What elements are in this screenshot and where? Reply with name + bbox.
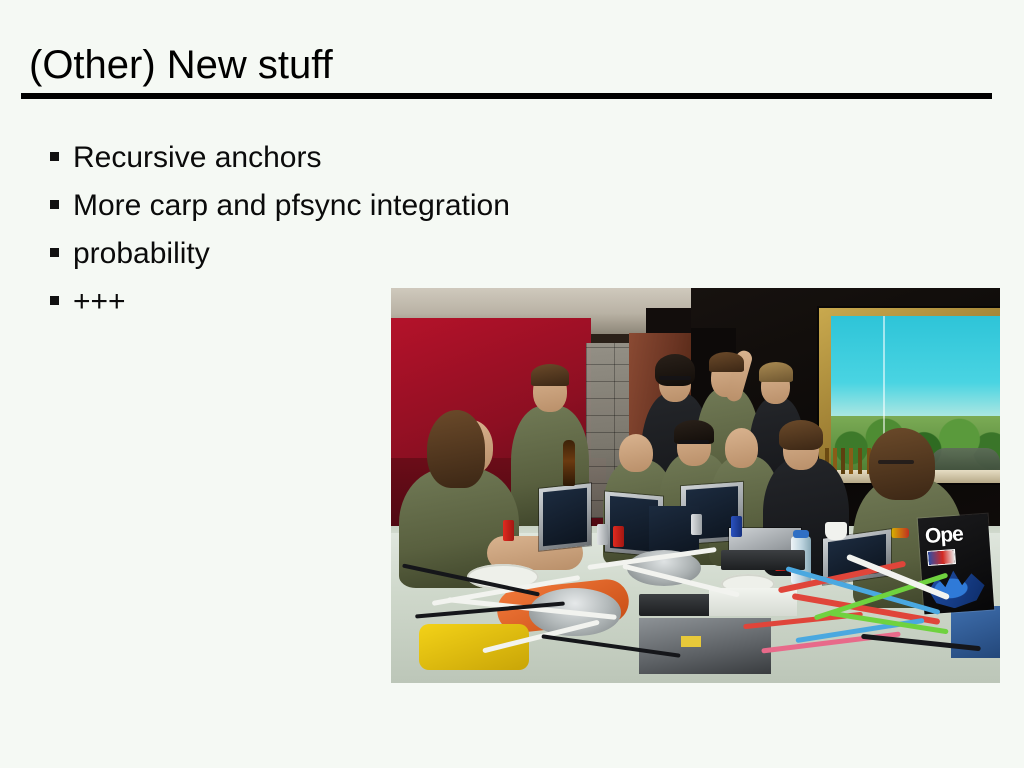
photo-person-hair	[709, 352, 744, 372]
photo-yellow-extension-cord	[419, 624, 529, 670]
list-item: probability	[50, 236, 690, 284]
list-item: Recursive anchors	[50, 140, 690, 188]
photo-soda-can	[597, 524, 608, 545]
photo-bottle-cap	[793, 530, 809, 538]
photo-person-hair	[655, 354, 695, 386]
openbsd-flag-icon	[928, 550, 955, 565]
square-bullet-icon	[50, 296, 59, 305]
photo-person-hair	[869, 428, 935, 500]
list-item-label: More carp and pfsync integration	[73, 188, 510, 224]
photo-eyeglasses	[659, 376, 691, 380]
square-bullet-icon	[50, 200, 59, 209]
page-title: (Other) New stuff	[29, 41, 333, 89]
square-bullet-icon	[50, 248, 59, 257]
photo-person-head	[619, 434, 653, 472]
presentation-slide: (Other) New stuff Recursive anchors More…	[0, 0, 1024, 768]
photo-soda-can	[691, 514, 702, 535]
list-item-label: Recursive anchors	[73, 140, 321, 176]
photo-laptop-screen	[543, 488, 587, 547]
photo-beer-bottle	[563, 440, 575, 486]
photo-person-dreadlocks	[427, 410, 485, 488]
list-item-label: probability	[73, 236, 210, 272]
photo-soda-can	[613, 526, 624, 547]
photo-soda-can	[731, 516, 742, 537]
puffer-fish-icon	[927, 566, 986, 610]
photo-person-hair	[759, 362, 793, 382]
photo-eyeglasses	[878, 460, 914, 464]
list-item-label: +++	[73, 284, 126, 320]
openbsd-box: Ope	[918, 514, 995, 615]
square-bullet-icon	[50, 152, 59, 161]
photo-person-head	[725, 428, 758, 468]
photo-drive-label	[681, 636, 701, 647]
photo-power-strip	[639, 594, 711, 616]
photo-coffee-cup	[825, 522, 847, 540]
list-item: More carp and pfsync integration	[50, 188, 690, 236]
photo-person-hair	[779, 420, 823, 450]
photo-person-hair	[531, 364, 569, 386]
photo-soda-can	[503, 520, 514, 541]
hackathon-photo: Ope	[391, 288, 1000, 683]
openbsd-box-label: Ope	[924, 523, 963, 548]
photo-eyeglasses	[679, 440, 709, 444]
photo-shirt-logo	[891, 528, 909, 538]
title-divider	[21, 93, 992, 99]
